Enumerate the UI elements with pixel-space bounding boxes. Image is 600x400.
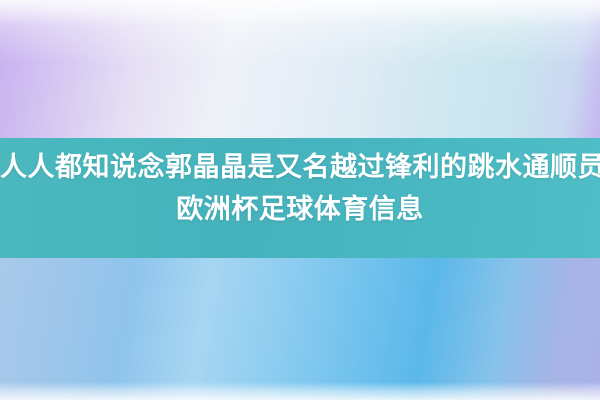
banner-headline: 人人都知说念郭晶晶是又名越过锋利的跳水通顺员 欧洲杯足球体育信息: [0, 146, 600, 230]
decorative-banner: 人人都知说念郭晶晶是又名越过锋利的跳水通顺员 欧洲杯足球体育信息: [0, 0, 600, 400]
headline-line-2: 欧洲杯足球体育信息: [0, 188, 600, 230]
headline-line-1: 人人都知说念郭晶晶是又名越过锋利的跳水通顺员: [0, 146, 600, 188]
bottom-haze-overlay: [0, 382, 600, 400]
